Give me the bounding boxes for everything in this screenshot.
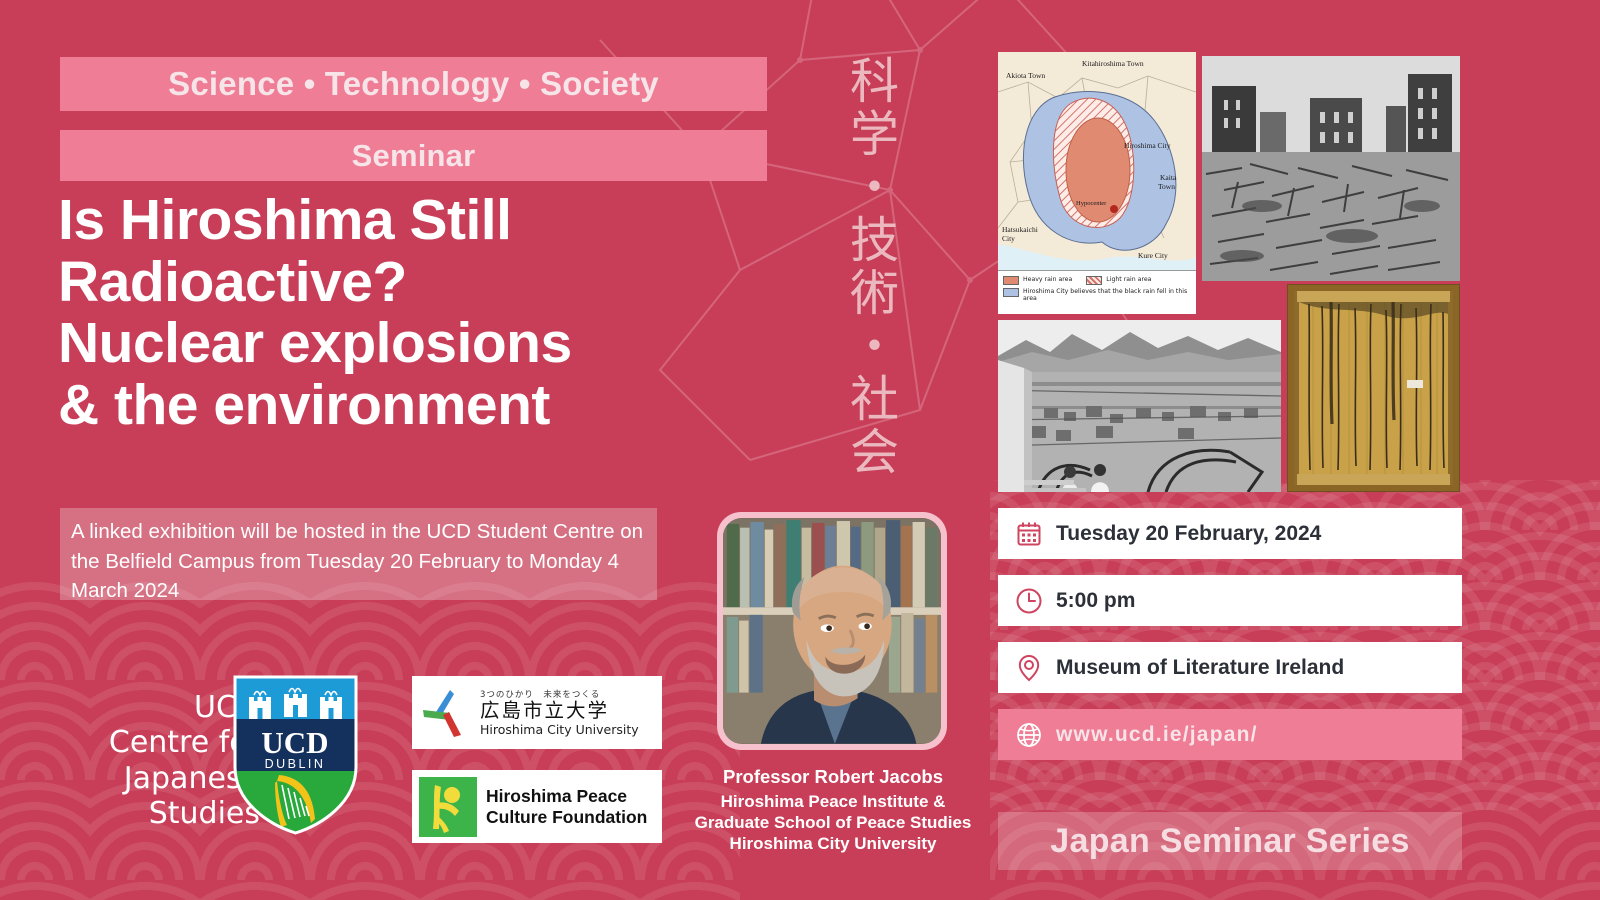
hiroshima-panorama-image <box>998 320 1281 492</box>
speaker-credit: Professor Robert Jacobs Hiroshima Peace … <box>660 766 1006 854</box>
svg-text:Town: Town <box>1158 182 1175 191</box>
vertical-japanese-text: 科学・技術・社会 <box>845 55 895 479</box>
series-label-bar: Science • Technology • Society <box>60 57 767 111</box>
hcu-japanese-name: 広島市立大学 <box>480 700 639 721</box>
image-collage: Akiota Town Kitahiroshima Town Hiroshima… <box>998 52 1462 492</box>
hcu-three-lights-icon <box>420 686 476 740</box>
event-date-value: Tuesday 20 February, 2024 <box>1056 522 1321 546</box>
hpcf-name: Hiroshima Peace Culture Foundation <box>486 786 647 828</box>
speaker-affiliation-line-2: Graduate School of Peace Studies <box>660 812 1006 833</box>
title-line-1: Is Hiroshima Still <box>58 190 818 252</box>
event-website-value: www.ucd.ie/japan/ <box>1056 723 1258 747</box>
map-legend: Heavy rain area Light rain area Hiroshim… <box>998 270 1196 314</box>
calendar-icon <box>1014 519 1044 549</box>
exhibition-note: A linked exhibition will be hosted in th… <box>60 508 657 600</box>
hcu-english-name: Hiroshima City University <box>480 722 639 737</box>
event-website-row[interactable]: www.ucd.ie/japan/ <box>998 709 1462 760</box>
hcu-text-block: 3つのひかり 未来をつくる 広島市立大学 Hiroshima City Univ… <box>480 688 639 736</box>
legend-label-believed: Hiroshima City believes that the black r… <box>1023 288 1192 302</box>
legend-label-heavy: Heavy rain area <box>1023 276 1072 283</box>
speaker-affiliation-line-1: Hiroshima Peace Institute & <box>660 791 1006 812</box>
legend-label-light: Light rain area <box>1106 276 1151 283</box>
speaker-affiliation: Hiroshima Peace Institute & Graduate Sch… <box>660 791 1006 854</box>
svg-text:Kitahiroshima Town: Kitahiroshima Town <box>1082 59 1144 68</box>
organiser-line-4: Studies <box>55 796 260 831</box>
legend-swatch-believed <box>1003 288 1019 297</box>
event-venue-value: Museum of Literature Ireland <box>1056 656 1344 680</box>
hiroshima-ruins-image <box>1202 56 1460 281</box>
legend-swatch-light <box>1086 276 1102 285</box>
shield-dublin-text: DUBLIN <box>265 757 326 771</box>
organiser-name: UCD Centre for Japanese Studies <box>55 690 260 832</box>
svg-text:Kaita: Kaita <box>1160 173 1177 182</box>
event-type-bar: Seminar <box>60 130 767 181</box>
event-info-list: Tuesday 20 February, 2024 5:00 pm Museum… <box>998 508 1462 776</box>
organiser-line-3: Japanese <box>55 761 260 796</box>
page-title: Is Hiroshima Still Radioactive? Nuclear … <box>58 190 818 436</box>
avatar <box>723 518 941 744</box>
svg-text:Hatsukaichi: Hatsukaichi <box>1002 225 1038 234</box>
poster-canvas: Science • Technology • Society Seminar I… <box>0 0 1600 900</box>
shield-ucd-text: UCD <box>261 725 328 760</box>
clock-icon <box>1014 586 1044 616</box>
legend-swatch-heavy <box>1003 276 1019 285</box>
organiser-line-1: UCD <box>55 690 260 725</box>
title-line-3: Nuclear explosions <box>58 313 818 375</box>
speaker-affiliation-line-3: Hiroshima City University <box>660 833 1006 854</box>
svg-text:City: City <box>1002 234 1015 243</box>
partner-logo-hiroshima-city-university: 3つのひかり 未来をつくる 広島市立大学 Hiroshima City Univ… <box>412 676 662 749</box>
speaker-name: Professor Robert Jacobs <box>660 766 1006 788</box>
ucd-shield-logo: UCD DUBLIN <box>233 675 358 835</box>
organiser-line-2: Centre for <box>55 725 260 760</box>
partner-logo-hiroshima-peace-culture-foundation: Hiroshima Peace Culture Foundation <box>412 770 662 843</box>
series-banner: Japan Seminar Series <box>998 812 1462 870</box>
title-line-4: & the environment <box>58 375 818 437</box>
svg-text:Hypocenter: Hypocenter <box>1076 200 1107 207</box>
title-line-2: Radioactive? <box>58 252 818 314</box>
speaker-photo-frame <box>717 512 947 750</box>
globe-icon <box>1014 720 1044 750</box>
event-date-row: Tuesday 20 February, 2024 <box>998 508 1462 559</box>
location-pin-icon <box>1014 653 1044 683</box>
event-time-row: 5:00 pm <box>998 575 1462 626</box>
hpcf-figure-icon <box>419 777 477 837</box>
svg-text:Akiota Town: Akiota Town <box>1006 71 1045 80</box>
hpcf-name-line-1: Hiroshima Peace <box>486 786 647 807</box>
organiser-block: UCD Centre for Japanese Studies <box>55 690 365 870</box>
event-venue-row: Museum of Literature Ireland <box>998 642 1462 693</box>
svg-text:Kure City: Kure City <box>1138 251 1168 260</box>
svg-text:Hiroshima City: Hiroshima City <box>1124 141 1171 150</box>
black-rain-map-image: Akiota Town Kitahiroshima Town Hiroshima… <box>998 52 1196 314</box>
event-time-value: 5:00 pm <box>1056 589 1135 613</box>
black-rain-panel-image <box>1287 284 1460 492</box>
hpcf-name-line-2: Culture Foundation <box>486 807 647 828</box>
